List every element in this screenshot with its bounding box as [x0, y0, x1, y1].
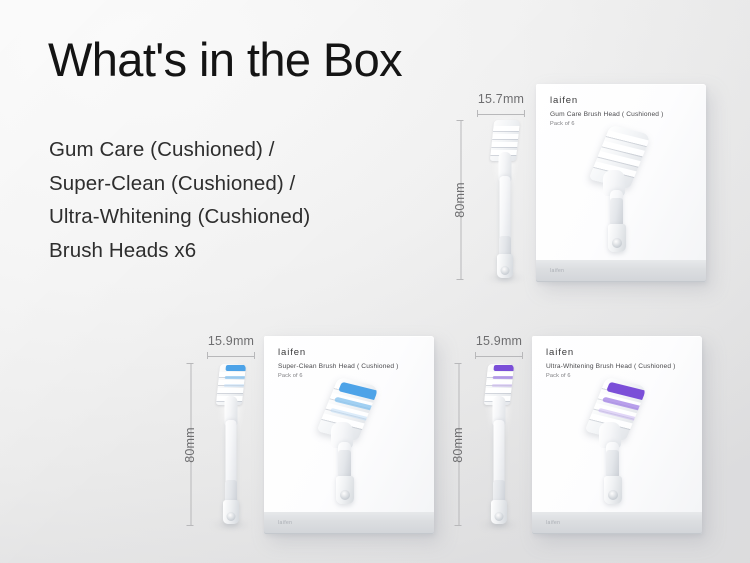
ultra-whitening-accent-band-2	[493, 376, 515, 379]
ultra-whitening-hero-base	[604, 476, 622, 504]
contents-description: Gum Care (Cushioned) / Super-Clean (Cush…	[49, 133, 310, 267]
super-clean-box-brand: laifen	[278, 347, 306, 358]
super-clean-accent-band-2	[225, 376, 247, 379]
super-clean-accent-band	[225, 365, 246, 371]
ultra-whitening-accent-band	[493, 365, 514, 371]
product-showcase-slide: What's in the Box Gum Care (Cushioned) /…	[0, 0, 750, 563]
ultra-whitening-width-value: 15.9mm	[464, 334, 534, 348]
gum-care-base	[497, 254, 513, 278]
gum-care-hero-collar	[610, 198, 623, 226]
description-line-1: Gum Care (Cushioned) /	[49, 133, 310, 167]
ultra-whitening-box-brand: laifen	[546, 347, 574, 358]
ultra-whitening-box-hero-render	[579, 376, 655, 508]
super-clean-box-side-face: laifen	[264, 512, 434, 534]
super-clean-base	[223, 500, 239, 524]
super-clean-box-product-name: Super-Clean Brush Head ( Cushioned )	[278, 362, 426, 371]
super-clean-width-dimension: 15.9mm	[196, 334, 266, 359]
super-clean-brush-head	[209, 362, 253, 524]
ultra-whitening-height-dimension: 80mm	[445, 363, 471, 526]
gum-care-box-side-face: laifen	[536, 260, 706, 282]
super-clean-box-pack-count: Pack of 6	[278, 372, 303, 380]
gum-care-box-brand: laifen	[550, 95, 578, 106]
ultra-whitening-accent-band-3	[492, 384, 514, 387]
super-clean-hero-base	[336, 476, 354, 504]
ultra-whitening-box-product-name: Ultra-Whitening Brush Head ( Cushioned )	[546, 362, 694, 371]
ultra-whitening-brush-head	[477, 362, 521, 524]
gum-care-brush-head	[483, 118, 527, 278]
super-clean-hero-collar	[338, 450, 351, 478]
super-clean-package-box[interactable]: laifen Super-Clean Brush Head ( Cushione…	[264, 336, 434, 534]
super-clean-height-dimension: 80mm	[177, 363, 203, 526]
gum-care-hero-base	[608, 224, 626, 252]
ultra-whitening-box-side-face: laifen	[532, 512, 702, 534]
ultra-whitening-width-dimension: 15.9mm	[464, 334, 534, 359]
gum-care-width-dimension: 15.7mm	[466, 92, 536, 117]
description-line-3: Ultra-Whitening (Cushioned)	[49, 200, 310, 234]
description-line-4: Brush Heads x6	[49, 234, 310, 268]
gum-care-package-box[interactable]: laifen Gum Care Brush Head ( Cushioned )…	[536, 84, 706, 282]
gum-care-box-product-name: Gum Care Brush Head ( Cushioned )	[550, 110, 698, 119]
ultra-whitening-hero-collar	[606, 450, 619, 478]
ultra-whitening-height-value: 80mm	[451, 424, 465, 466]
gum-care-height-value: 80mm	[453, 179, 467, 221]
ultra-whitening-box-side-brand: laifen	[546, 520, 560, 526]
ultra-whitening-width-bracket	[475, 352, 523, 359]
description-line-2: Super-Clean (Cushioned) /	[49, 167, 310, 201]
ultra-whitening-base	[491, 500, 507, 524]
super-clean-accent-band-3	[224, 384, 246, 387]
page-title: What's in the Box	[48, 36, 402, 85]
gum-care-box-hero-render	[583, 124, 659, 256]
gum-care-width-value: 15.7mm	[466, 92, 536, 106]
gum-care-width-bracket	[477, 110, 525, 117]
gum-care-box-pack-count: Pack of 6	[550, 120, 575, 128]
super-clean-box-side-brand: laifen	[278, 520, 292, 526]
gum-care-height-dimension: 80mm	[447, 120, 473, 280]
ultra-whitening-box-pack-count: Pack of 6	[546, 372, 571, 380]
ultra-whitening-package-box[interactable]: laifen Ultra-Whitening Brush Head ( Cush…	[532, 336, 702, 534]
super-clean-box-hero-render	[311, 376, 387, 508]
super-clean-width-value: 15.9mm	[196, 334, 266, 348]
gum-care-box-side-brand: laifen	[550, 268, 564, 274]
super-clean-height-value: 80mm	[183, 424, 197, 466]
super-clean-width-bracket	[207, 352, 255, 359]
